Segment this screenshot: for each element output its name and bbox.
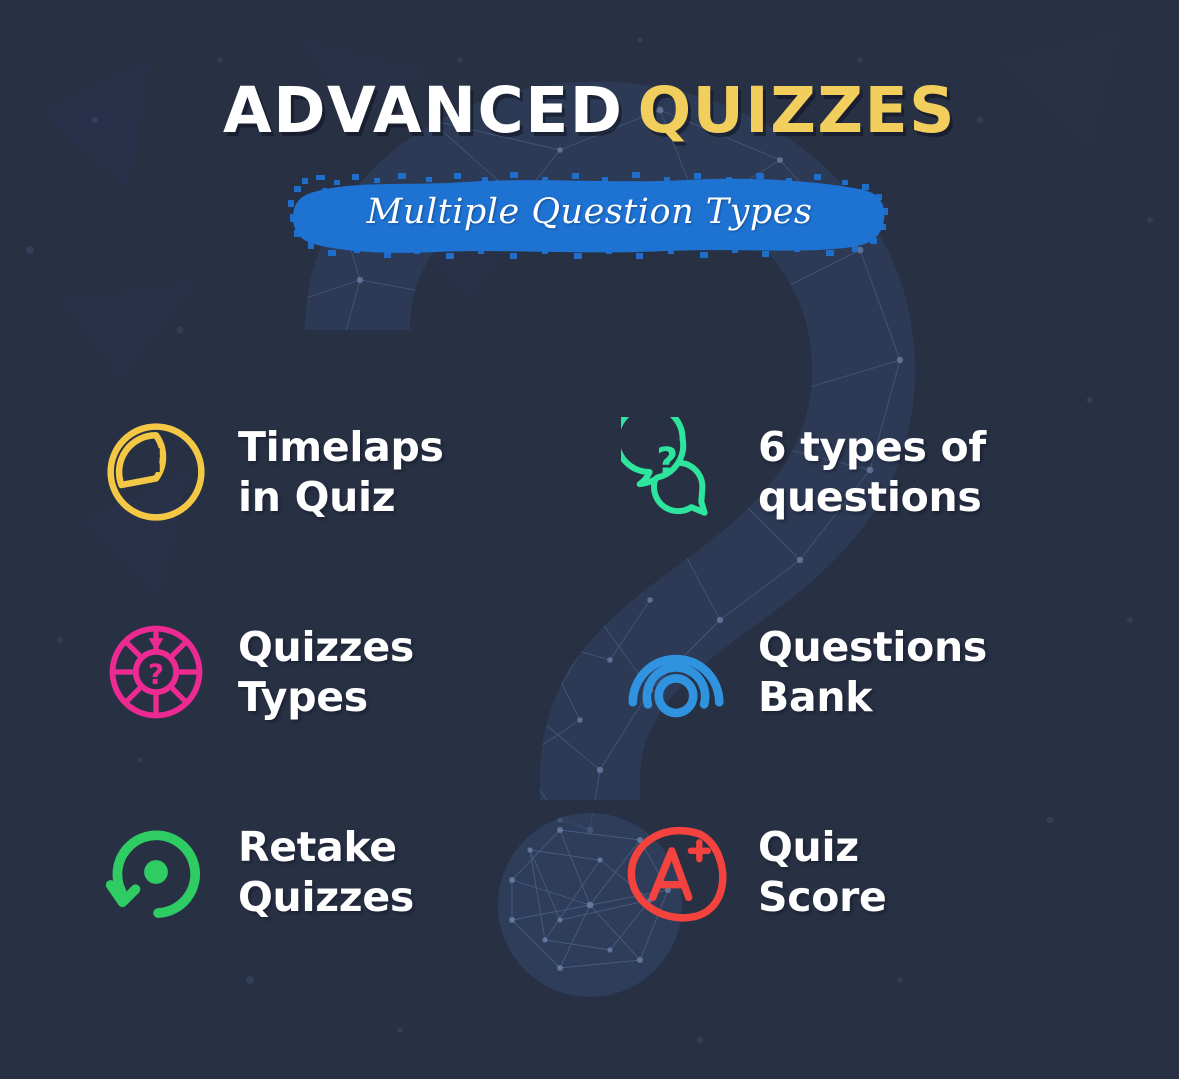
refresh-arrow-icon [100,816,212,928]
feature-six-types-of-questions: ? 6 types of questions [620,372,1160,572]
feature-retake-quizzes: Retake Quizzes [100,772,620,972]
infographic-poster: ADVANCEDQUIZZES [0,0,1179,1079]
subtitle-banner: Multiple Question Types [286,168,894,260]
wheel-question-icon: ? [100,616,212,728]
a-plus-grade-icon [620,816,732,928]
title-word-quizzes: QUIZZES [638,74,956,147]
feature-quizzes-types: ? Quizzes Types [100,572,620,772]
feature-label-questions-bank: Questions Bank [758,622,987,722]
poster-header: ADVANCEDQUIZZES [0,78,1179,260]
svg-text:?: ? [148,659,164,691]
banner-subtitle: Multiple Question Types [286,168,894,260]
feature-label-quiz-score: Quiz Score [758,822,887,922]
speech-bubbles-question-icon: ? [620,416,732,528]
feature-grid: Timelaps in Quiz ? 6 types of questions [0,372,1179,972]
feature-questions-bank: Questions Bank [620,572,1160,772]
feature-quiz-score: Quiz Score [620,772,1160,972]
title-word-advanced: ADVANCED [223,74,624,147]
nested-arcs-icon [620,616,732,728]
feature-timelaps-in-quiz: Timelaps in Quiz [100,372,620,572]
feature-label-six-types-of-questions: 6 types of questions [758,422,986,522]
feature-label-retake-quizzes: Retake Quizzes [238,822,414,922]
page-title: ADVANCEDQUIZZES [0,78,1179,144]
svg-text:?: ? [656,439,678,483]
feature-label-quizzes-types: Quizzes Types [238,622,414,722]
feature-label-timelaps-in-quiz: Timelaps in Quiz [238,422,444,522]
clock-pie-icon [100,416,212,528]
